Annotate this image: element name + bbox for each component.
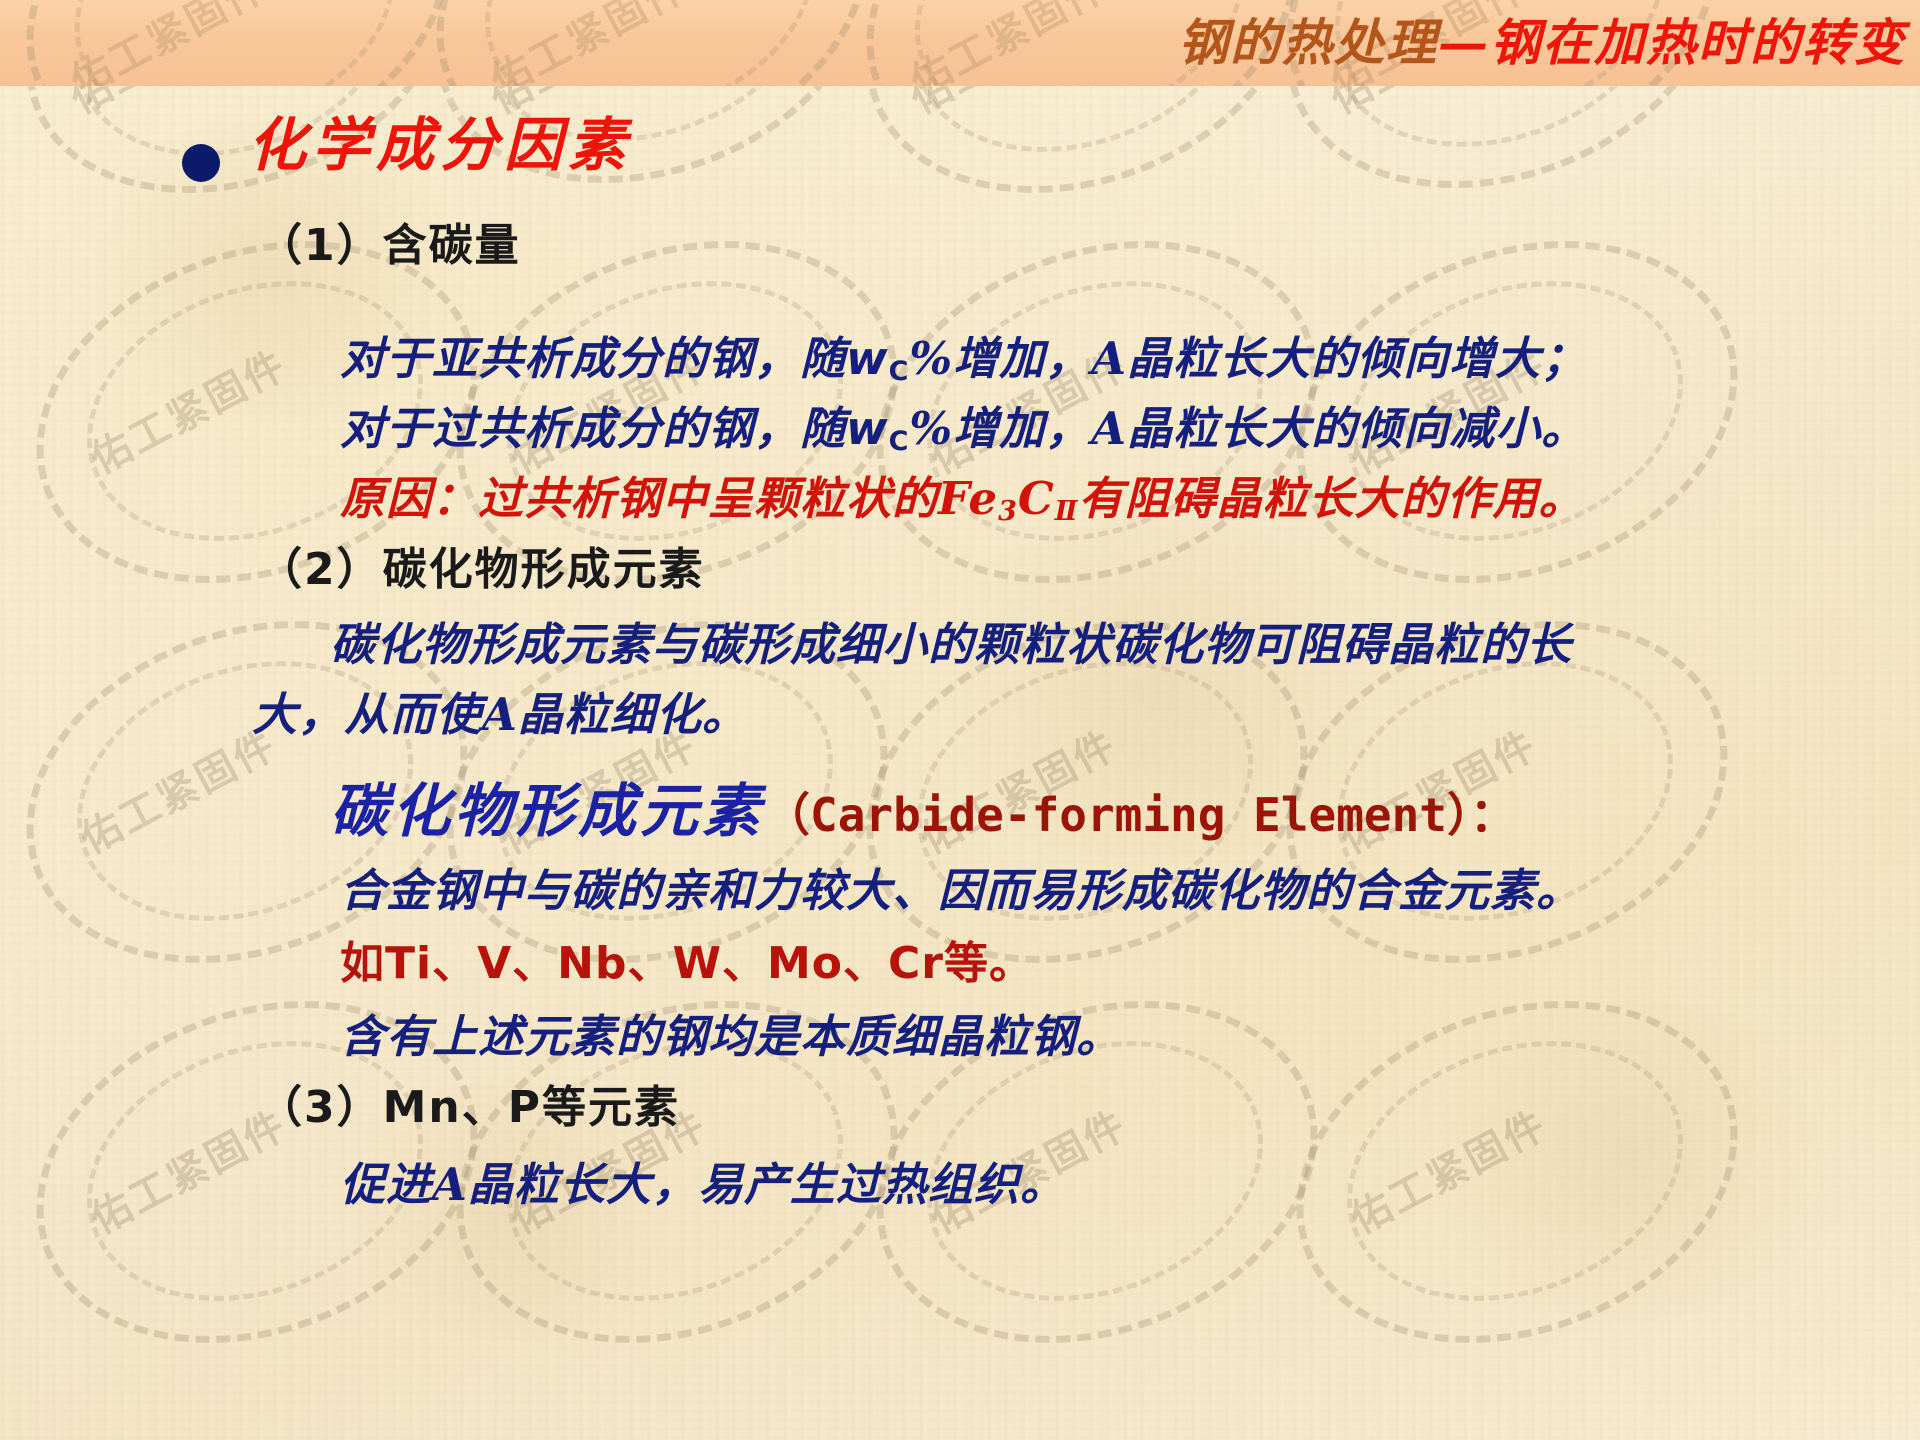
item2-line1: 碳化物形成元素与碳形成细小的颗粒状碳化物可阻碍晶粒的长 bbox=[330, 622, 1572, 667]
item1-line2-part-a: 对于过共析成分的钢，随 bbox=[340, 402, 846, 455]
term-heading-cn: 碳化物形成元素 bbox=[330, 777, 764, 845]
item2-line2: 大，从而使A晶粒细化。 bbox=[252, 692, 748, 737]
term-definition: 合金钢中与碳的亲和力较大、因而易形成碳化物的合金元素。 bbox=[340, 868, 1582, 913]
item3-label: （3）Mn、P等元素 bbox=[258, 1086, 680, 1130]
carbon-mass-fraction-symbol: wC bbox=[846, 332, 909, 385]
header-band: 佑工紧固件 佑工紧固件 佑工紧固件 佑工紧固件 钢的热处理—钢在加热时的转变 bbox=[0, 0, 1920, 86]
item1-line1-part-b: %增加，A晶粒长大的倾向增大； bbox=[909, 332, 1587, 385]
reason-part-a: 原因：过共析钢中呈颗粒状的Fe bbox=[340, 472, 998, 525]
term-heading-en: （Carbide-forming Element）： bbox=[764, 788, 1516, 842]
term-examples: 如Ti、V、Nb、W、Mo、Cr等。 bbox=[340, 942, 1034, 986]
item1-line2-part-b: %增加，A晶粒长大的倾向减小。 bbox=[909, 402, 1587, 455]
slide-root: 佑工紧固件 佑工紧固件 佑工紧固件 佑工紧固件 佑工紧固件 佑工紧固件 佑工紧固… bbox=[0, 0, 1920, 1440]
item3-line1: 促进A晶粒长大，易产生过热组织。 bbox=[340, 1162, 1066, 1207]
item1-label: （1）含碳量 bbox=[258, 224, 521, 268]
term-heading: 碳化物形成元素（Carbide-forming Element）： bbox=[330, 782, 1516, 840]
section-heading: 化学成分因素 bbox=[248, 116, 632, 174]
header-title-topic: —钢在加热时的转变 bbox=[1438, 13, 1906, 72]
fe3c-sub-ii: Ⅱ bbox=[1055, 496, 1079, 527]
term-note: 含有上述元素的钢均是本质细晶粒钢。 bbox=[340, 1014, 1122, 1059]
reason-part-b: C bbox=[1018, 472, 1055, 525]
item1-line1: 对于亚共析成分的钢，随wC%增加，A晶粒长大的倾向增大； bbox=[340, 336, 1587, 385]
carbon-mass-fraction-symbol: wC bbox=[846, 402, 909, 455]
reason-part-c: 有阻碍晶粒长大的作用。 bbox=[1079, 472, 1585, 525]
item1-line1-part-a: 对于亚共析成分的钢，随 bbox=[340, 332, 846, 385]
slide-content: 化学成分因素 （1）含碳量 对于亚共析成分的钢，随wC%增加，A晶粒长大的倾向增… bbox=[0, 86, 1920, 1440]
reason-line: 原因：过共析钢中呈颗粒状的Fe3CⅡ有阻碍晶粒长大的作用。 bbox=[340, 476, 1585, 525]
header-title: 钢的热处理—钢在加热时的转变 bbox=[1178, 6, 1906, 80]
header-title-subject: 钢的热处理 bbox=[1178, 13, 1438, 72]
item2-label: （2）碳化物形成元素 bbox=[258, 548, 705, 592]
item1-line2: 对于过共析成分的钢，随wC%增加，A晶粒长大的倾向减小。 bbox=[340, 406, 1587, 455]
fe3c-sub-3: 3 bbox=[998, 496, 1018, 527]
bullet-dot-icon bbox=[182, 144, 220, 182]
